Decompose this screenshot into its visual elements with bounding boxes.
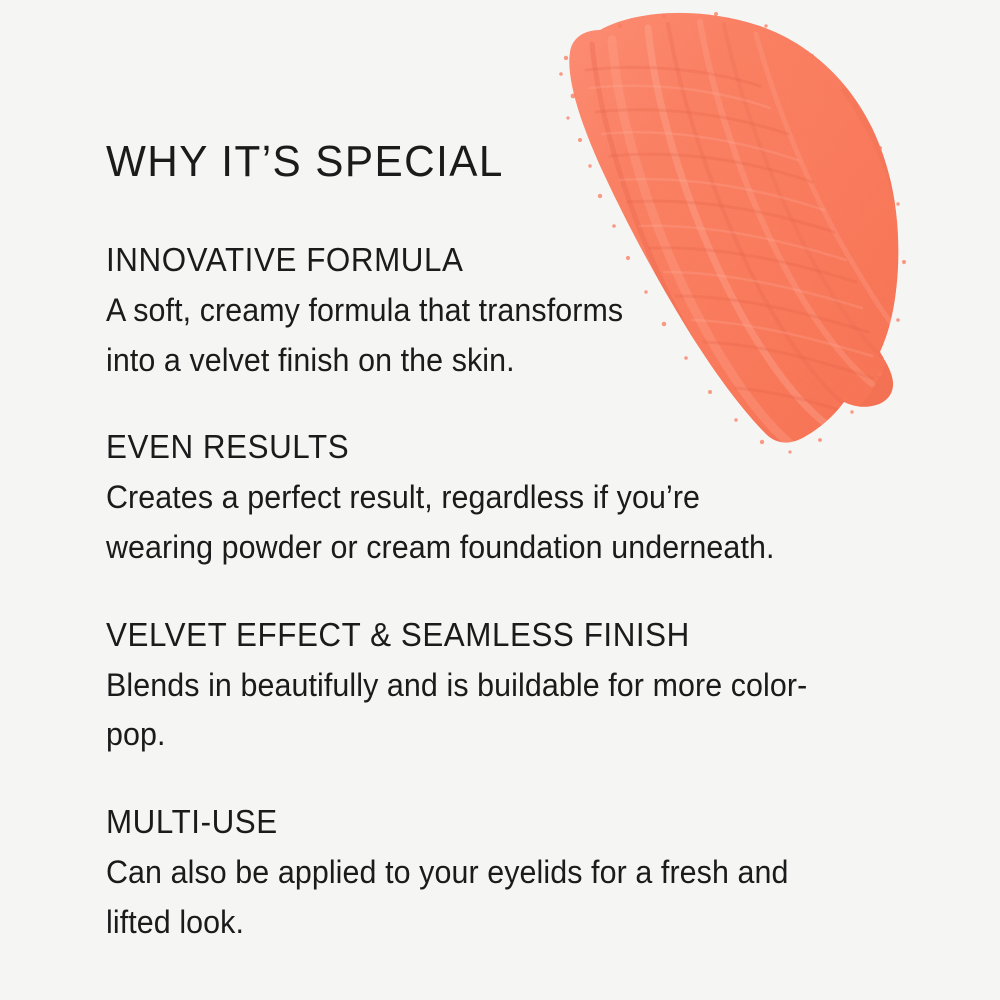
product-detail-panel: WHY IT’S SPECIAL INNOVATIVE FORMULA A so… [0, 0, 1000, 1000]
feature-heading: VELVET EFFECT & SEAMLESS FINISH [106, 617, 866, 653]
feature-body: Blends in beautifully and is buildable f… [106, 661, 857, 761]
page-title: WHY IT’S SPECIAL [106, 140, 874, 184]
feature-multi-use: MULTI-USE Can also be applied to your ey… [106, 804, 906, 947]
feature-heading: INNOVATIVE FORMULA [106, 242, 866, 278]
feature-innovative-formula: INNOVATIVE FORMULA A soft, creamy formul… [106, 242, 906, 385]
feature-even-results: EVEN RESULTS Creates a perfect result, r… [106, 429, 906, 572]
feature-velvet-effect: VELVET EFFECT & SEAMLESS FINISH Blends i… [106, 617, 906, 760]
copy-block: WHY IT’S SPECIAL INNOVATIVE FORMULA A so… [106, 140, 906, 948]
feature-heading: MULTI-USE [106, 804, 866, 840]
feature-body: A soft, creamy formula that transforms i… [106, 286, 857, 386]
feature-body: Can also be applied to your eyelids for … [106, 848, 857, 948]
feature-heading: EVEN RESULTS [106, 429, 866, 465]
feature-body: Creates a perfect result, regardless if … [106, 473, 857, 573]
